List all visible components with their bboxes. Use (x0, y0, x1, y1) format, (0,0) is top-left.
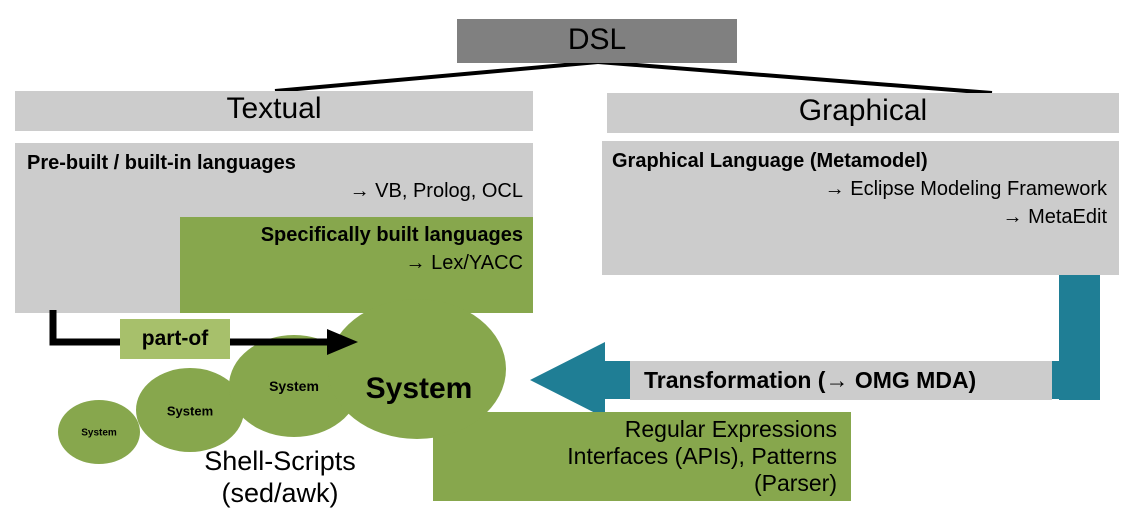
prebuilt-languages-heading: Pre-built / built-in languages (27, 151, 296, 177)
graphical-header-box[interactable]: Graphical (607, 93, 1119, 133)
prebuilt-languages-examples: → VB, Prolog, OCL (103, 179, 523, 205)
textual-header-label: Textual (226, 92, 321, 125)
part-of-label-box[interactable]: part-of (120, 319, 230, 359)
specifically-built-examples: → Lex/YACC (183, 251, 523, 277)
specifically-built-languages-box[interactable]: Specifically built languages → Lex/YACC (180, 217, 533, 313)
system-ellipse-2-label: System (167, 404, 213, 419)
graphical-language-heading: Graphical Language (Metamodel) (612, 149, 928, 175)
implementation-line-2: Interfaces (APIs), Patterns (437, 443, 837, 470)
shell-scripts-line-2: (sed/awk) (160, 478, 400, 510)
transformation-box[interactable]: Transformation (→ OMG MDA) (630, 361, 1052, 400)
graphical-content-panel[interactable]: Graphical Language (Metamodel) → Eclipse… (602, 141, 1119, 275)
part-of-arrowhead-icon (327, 329, 358, 355)
graphical-header-label: Graphical (799, 94, 927, 127)
dsl-root-box[interactable]: DSL (457, 19, 737, 63)
system-ellipse-3-label: System (269, 378, 319, 394)
shell-scripts-caption: Shell-Scripts (sed/awk) (160, 446, 400, 510)
transformation-label: Transformation (→ OMG MDA) (644, 367, 976, 394)
teal-vertical-connector (1059, 275, 1100, 400)
part-of-label: part-of (142, 327, 209, 351)
dsl-taxonomy-diagram: DSL Textual Graphical Pre-built / built-… (0, 0, 1134, 513)
implementation-line-1: Regular Expressions (437, 416, 837, 443)
specifically-built-heading: Specifically built languages (183, 223, 523, 249)
dsl-root-label: DSL (568, 23, 626, 56)
system-ellipse-4-label: System (366, 372, 473, 406)
connector-dsl-to-textual (275, 62, 598, 91)
implementation-details-box[interactable]: Regular Expressions Interfaces (APIs), P… (433, 412, 851, 501)
shell-scripts-line-1: Shell-Scripts (160, 446, 400, 478)
implementation-line-3: (Parser) (437, 470, 837, 497)
graphical-language-examples-2: → MetaEdit (627, 205, 1107, 231)
connector-dsl-to-graphical (598, 62, 992, 93)
textual-header-box[interactable]: Textual (15, 91, 533, 131)
graphical-language-examples-1: → Eclipse Modeling Framework (627, 177, 1107, 203)
system-ellipse-1-label: System (81, 428, 117, 439)
